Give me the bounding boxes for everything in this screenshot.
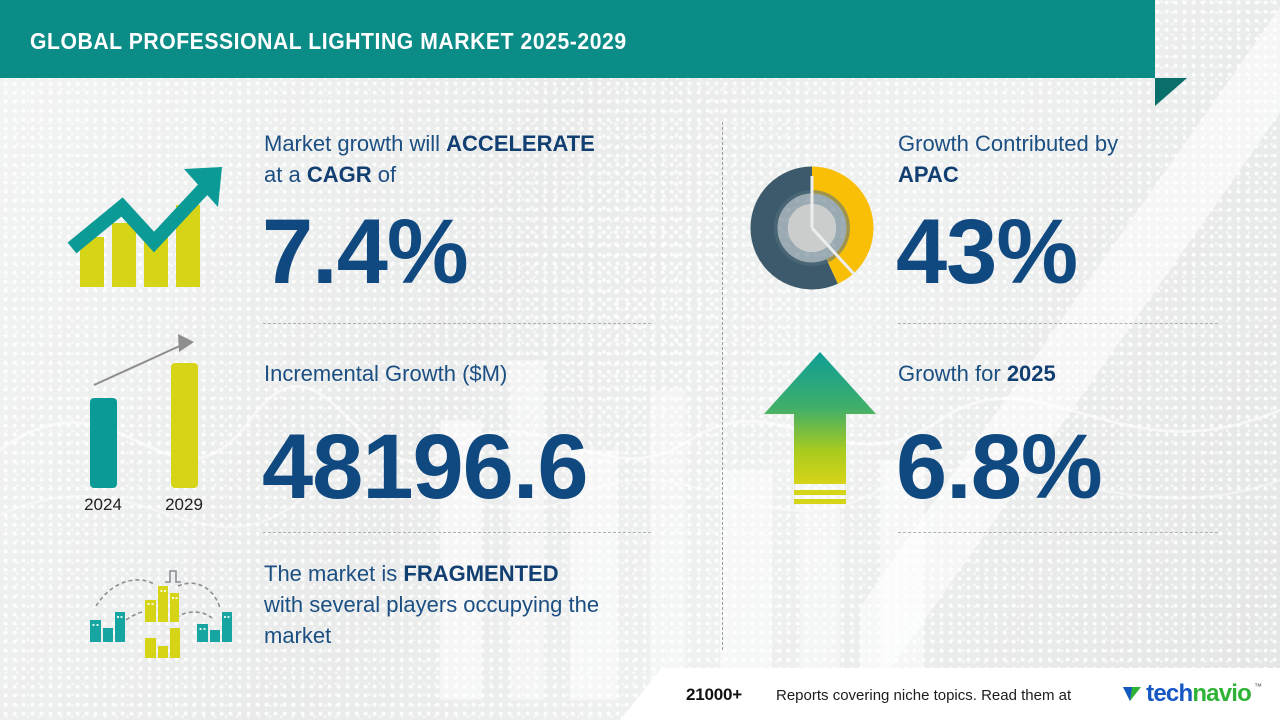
cagr-description: Market growth will ACCELERATE at a CAGR … (264, 128, 664, 190)
technavio-logo[interactable]: technavio ™ (1121, 680, 1262, 708)
incremental-growth-label: Incremental Growth ($M) (264, 358, 664, 389)
apac-line2-bold: APAC (898, 162, 959, 187)
header-banner: GLOBAL PROFESSIONAL LIGHTING MARKET 2025… (0, 0, 1155, 78)
cagr-line1-prefix: Market growth will (264, 131, 446, 156)
growth-2025-line1-prefix: Growth for (898, 361, 1007, 386)
divider-right-1 (898, 323, 1218, 324)
logo-part-navio: navio (1192, 680, 1251, 707)
cagr-line2-prefix: at a (264, 162, 307, 187)
growth-chart-icon (66, 145, 236, 295)
frag-line2: with several players occupying the (264, 592, 599, 617)
cagr-line1-bold: ACCELERATE (446, 131, 595, 156)
logo-trademark: ™ (1254, 682, 1262, 691)
frag-line3: market (264, 623, 331, 648)
frag-line1-prefix: The market is (264, 561, 403, 586)
footer: 21000+ Reports covering niche topics. Re… (0, 668, 1280, 720)
incremental-growth-value: 48196.6 (262, 415, 588, 520)
header-fold-corner (1155, 78, 1187, 106)
growth-2025-line1-bold: 2025 (1007, 361, 1056, 386)
logo-part-tech: tech (1146, 680, 1192, 707)
divider-right-2 (898, 532, 1218, 533)
divider-left-2 (263, 532, 651, 533)
fragmented-description: The market is FRAGMENTED with several pl… (264, 558, 684, 651)
svg-text:2024: 2024 (84, 495, 122, 514)
page-title: GLOBAL PROFESSIONAL LIGHTING MARKET 2025… (30, 28, 627, 55)
cagr-line2-bold: CAGR (307, 162, 372, 187)
divider-left-1 (263, 323, 651, 324)
up-arrow-icon (760, 348, 880, 513)
footer-tagline: Reports covering niche topics. Read them… (776, 687, 1071, 704)
apac-line1: Growth Contributed by (898, 131, 1118, 156)
technavio-wordmark: technavio (1146, 682, 1251, 706)
technavio-mark-icon (1121, 683, 1143, 705)
apac-description: Growth Contributed by APAC (898, 128, 1228, 190)
growth-2025-value: 6.8% (896, 415, 1102, 520)
cagr-line2-suffix: of (372, 162, 396, 187)
apac-value: 43% (896, 200, 1077, 305)
fragmented-market-icon (62, 558, 252, 663)
growth-2025-description: Growth for 2025 (898, 358, 1228, 389)
divider-vertical (722, 122, 723, 650)
frag-line1-bold: FRAGMENTED (403, 561, 558, 586)
footer-report-count: 21000+ (686, 685, 742, 705)
bar-comparison-icon: 2024 2029 (66, 330, 241, 525)
donut-chart-icon (746, 162, 878, 294)
svg-text:2029: 2029 (165, 495, 203, 514)
cagr-value: 7.4% (262, 200, 468, 305)
